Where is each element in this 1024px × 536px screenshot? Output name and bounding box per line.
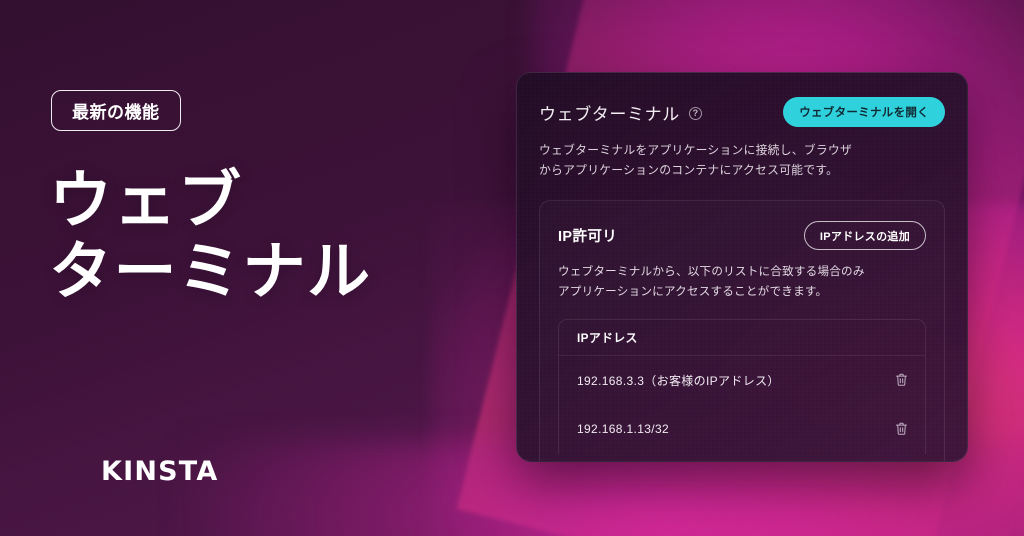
ip-allowlist-header: IP許可リ IPアドレスの追加	[558, 221, 926, 251]
ip-address-value: 192.168.1.13/32	[577, 422, 669, 436]
web-terminal-card: ウェブターミナル ? ウェブターミナルを開く ウェブターミナルをアプリケーション…	[516, 72, 968, 462]
ip-address-table: IPアドレス 192.168.3.3（お客様のIPアドレス）	[558, 319, 926, 454]
ip-allowlist-panel: IP許可リ IPアドレスの追加 ウェブターミナルから、以下のリストに合致する場合…	[539, 200, 945, 462]
trash-icon[interactable]	[892, 419, 911, 439]
row-actions	[892, 419, 911, 439]
kinsta-logo-text: Kinsta	[101, 456, 218, 487]
help-circle-icon[interactable]: ?	[689, 107, 702, 120]
page-title: ウェブ ターミナル	[49, 166, 372, 307]
table-row[interactable]: 192.168.3.3（お客様のIPアドレス）	[559, 356, 925, 405]
table-header-row: IPアドレス	[559, 320, 925, 356]
ip-address-value: 192.168.3.3（お客様のIPアドレス）	[577, 372, 780, 389]
add-ip-address-button[interactable]: IPアドレスの追加	[804, 221, 926, 250]
ip-allowlist-description: ウェブターミナルから、以下のリストに合致する場合のみ アプリケーションにアクセス…	[558, 262, 926, 302]
card-title: ウェブターミナル	[539, 100, 680, 125]
card-header: ウェブターミナル ? ウェブターミナルを開く	[539, 97, 945, 127]
new-feature-badge: 最新の機能	[51, 90, 181, 131]
column-header-ip-address: IPアドレス	[577, 329, 638, 346]
row-actions	[892, 370, 911, 390]
card-description: ウェブターミナルをアプリケーションに接続し、ブラウザ からアプリケーションのコン…	[539, 140, 945, 181]
ip-allowlist-title: IP許可リ	[558, 225, 617, 246]
table-row[interactable]: 192.168.1.13/32	[559, 405, 925, 454]
left-content-column: 最新の機能 ウェブ ターミナル Kinsta	[51, 0, 511, 536]
trash-icon[interactable]	[892, 370, 911, 390]
promo-banner: 最新の機能 ウェブ ターミナル Kinsta ウェブターミナル ? ウェブターミ…	[0, 0, 1024, 536]
open-web-terminal-button[interactable]: ウェブターミナルを開く	[783, 97, 945, 127]
kinsta-logo: Kinsta	[101, 456, 218, 487]
